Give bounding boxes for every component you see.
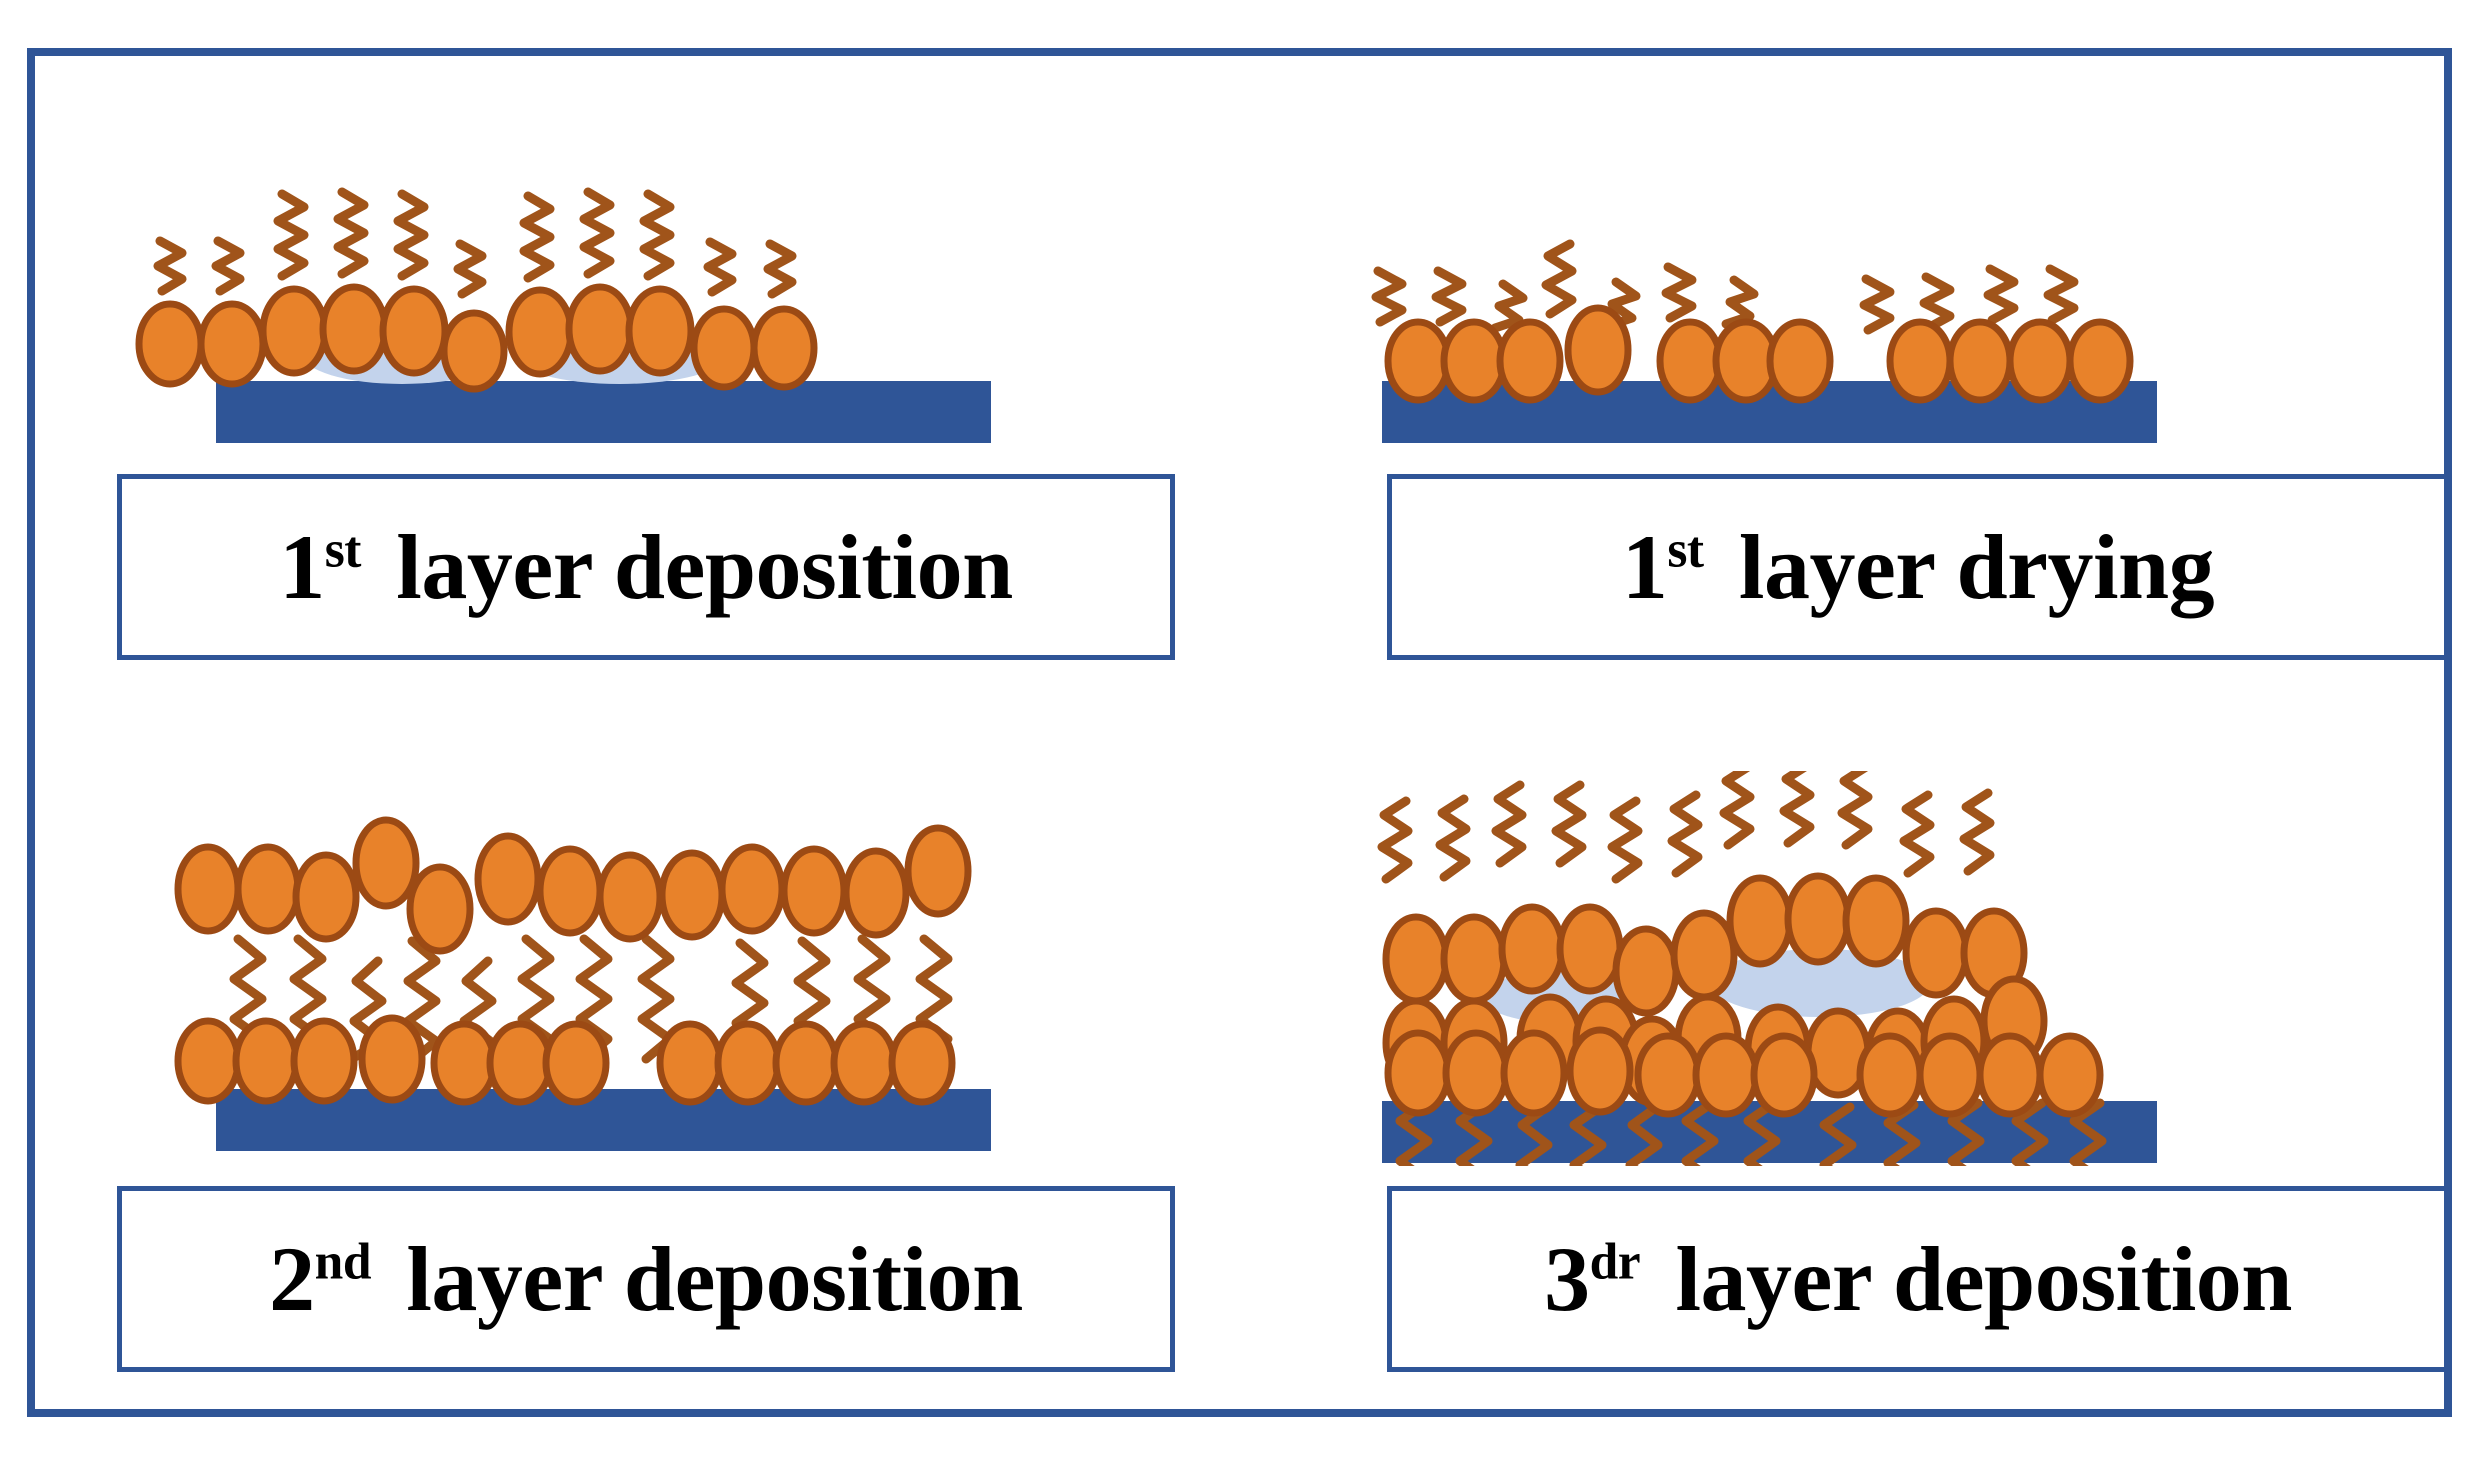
caption-rest: layer deposition [406, 1228, 1022, 1330]
caption-ordinal-suffix: st [1667, 521, 1703, 578]
panel-4-illustration [1360, 771, 2465, 1166]
caption-ordinal-number: 3 [1544, 1228, 1590, 1330]
caption-box-first-layer-deposition: 1st layer deposition [117, 474, 1175, 660]
caption-rest: layer drying [1739, 516, 2214, 618]
caption-ordinal-number: 1 [279, 516, 325, 618]
surfactant-heads [1388, 308, 2130, 400]
surfactant-heads-top [1386, 876, 2024, 1013]
panel-3-svg [90, 771, 1195, 1166]
panel-3-illustration [90, 771, 1195, 1166]
caption-rest: layer deposition [396, 516, 1012, 618]
caption-rest: layer deposition [1675, 1228, 2291, 1330]
caption-text-first-layer-deposition: 1st layer deposition [279, 521, 1013, 613]
surfactant-tails [1376, 244, 2074, 330]
caption-text-third-layer-deposition: 3dr layer deposition [1544, 1233, 2292, 1325]
panel-first-layer-deposition: 1st layer deposition [90, 116, 1195, 726]
caption-ordinal-number: 1 [1622, 516, 1668, 618]
caption-ordinal-suffix: dr [1590, 1233, 1641, 1290]
panel-second-layer-deposition: 2nd layer deposition [90, 771, 1195, 1411]
caption-box-second-layer-deposition: 2nd layer deposition [117, 1186, 1175, 1372]
figure-outer-frame: 1st layer deposition [27, 48, 2452, 1417]
panel-2-illustration [1360, 116, 2465, 446]
panel-1-illustration [90, 116, 1195, 446]
caption-ordinal-suffix: nd [315, 1233, 371, 1290]
panel-1-svg [90, 116, 1195, 446]
panel-third-layer-deposition: 3dr layer deposition [1360, 771, 2465, 1411]
panel-2-svg [1360, 116, 2465, 446]
caption-text-first-layer-drying: 1st layer drying [1622, 521, 2214, 613]
caption-ordinal-number: 2 [269, 1228, 315, 1330]
surfactant-heads-upper [178, 820, 968, 951]
figure-root: 1st layer deposition [0, 0, 2488, 1457]
substrate-bar [216, 381, 991, 443]
surfactant-tails-top [1382, 771, 1990, 879]
panel-4-svg [1360, 771, 2465, 1166]
surfactant-tails [158, 192, 792, 294]
surfactant-heads [139, 287, 814, 389]
caption-box-third-layer-deposition: 3dr layer deposition [1387, 1186, 2449, 1372]
caption-ordinal-suffix: st [325, 521, 361, 578]
caption-box-first-layer-drying: 1st layer drying [1387, 474, 2449, 660]
surfactant-heads-bottom [1388, 1030, 2100, 1114]
caption-text-second-layer-deposition: 2nd layer deposition [269, 1233, 1023, 1325]
panel-first-layer-drying: 1st layer drying [1360, 116, 2465, 726]
